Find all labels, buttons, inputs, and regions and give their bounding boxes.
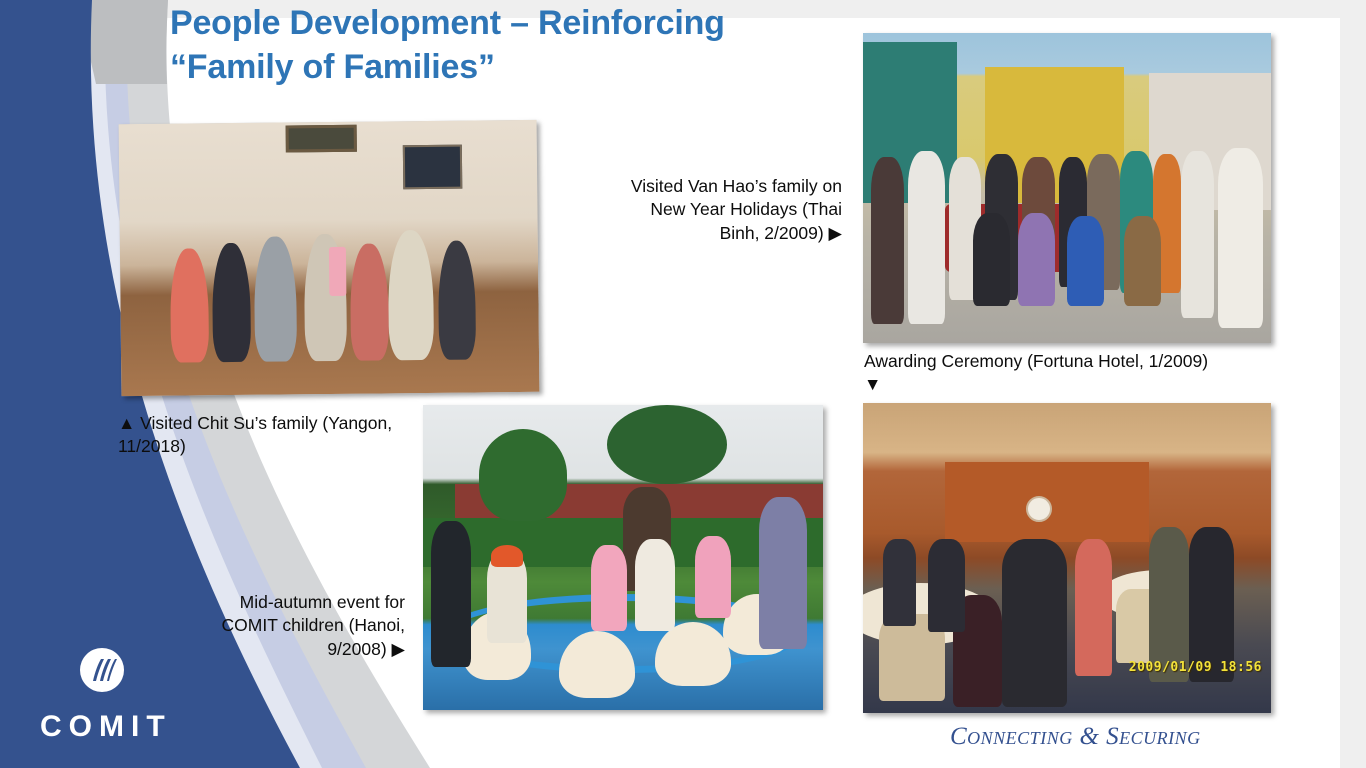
comit-logo: COMIT (40, 640, 230, 750)
child-cap-decor (491, 545, 523, 566)
page-title: People Development – Reinforcing “Family… (170, 2, 870, 89)
caption-mid-autumn: Mid-autumn event for COMIT children (Han… (205, 591, 405, 661)
child-decor (695, 536, 731, 618)
person-decor (1218, 148, 1263, 328)
comit-wordmark: COMIT (40, 710, 220, 744)
person-decor (350, 244, 389, 361)
seated-person-decor (1124, 216, 1161, 306)
comit-circle-strokes-icon (68, 640, 132, 704)
presentation-slide: People Development – Reinforcing “Family… (0, 0, 1366, 768)
guest-decor (1002, 539, 1067, 706)
person-decor (254, 237, 297, 363)
caption-awarding-ceremony: Awarding Ceremony (Fortuna Hotel, 1/2009… (864, 350, 1224, 397)
caption-chit-su: ▲ Visited Chit Su’s family (Yangon, 11/2… (118, 412, 418, 459)
photo-mid-autumn-content (423, 405, 823, 710)
palm-tree-decor (479, 429, 567, 521)
person-decor (212, 243, 251, 363)
seated-person-decor (1018, 213, 1055, 306)
television-decor (403, 145, 462, 189)
guest-decor (883, 539, 916, 626)
person-decor (908, 151, 945, 325)
child-decor (635, 539, 675, 631)
wall-picture-decor (286, 124, 357, 152)
tagline: Connecting & Securing (950, 723, 1201, 751)
title-line-1: People Development – Reinforcing (170, 4, 725, 42)
guest-decor (928, 539, 965, 632)
person-decor (437, 240, 476, 360)
title-line-2: “Family of Families” (170, 46, 870, 90)
photo-mid-autumn-event[interactable] (423, 405, 823, 710)
seated-person-decor (1067, 216, 1104, 306)
wall-clock-icon (1026, 496, 1052, 522)
photo-awarding-content: 2009/01/09 18:56 (863, 403, 1271, 713)
photo-van-hao-content (863, 33, 1271, 343)
adult-decor (759, 497, 807, 650)
child-decor (591, 545, 627, 630)
guest-decor (1075, 539, 1112, 675)
person-decor (387, 230, 434, 361)
person-decor (170, 248, 209, 363)
seated-person-decor (973, 213, 1010, 306)
tree-decor (607, 405, 727, 484)
photo-van-hao-family[interactable] (863, 33, 1271, 343)
person-decor (871, 157, 904, 324)
photo-awarding-ceremony[interactable]: 2009/01/09 18:56 (863, 403, 1271, 713)
photo-timestamp: 2009/01/09 18:56 (1129, 660, 1262, 675)
person-decor (1181, 151, 1214, 318)
gift-decor (329, 247, 346, 296)
photo-chit-su-content (119, 120, 540, 396)
adult-decor (431, 521, 471, 667)
photo-chit-su-family[interactable] (119, 120, 540, 396)
guest-decor (1189, 527, 1234, 682)
guest-decor (1149, 527, 1190, 682)
caption-van-hao: Visited Van Hao’s family on New Year Hol… (628, 175, 842, 245)
